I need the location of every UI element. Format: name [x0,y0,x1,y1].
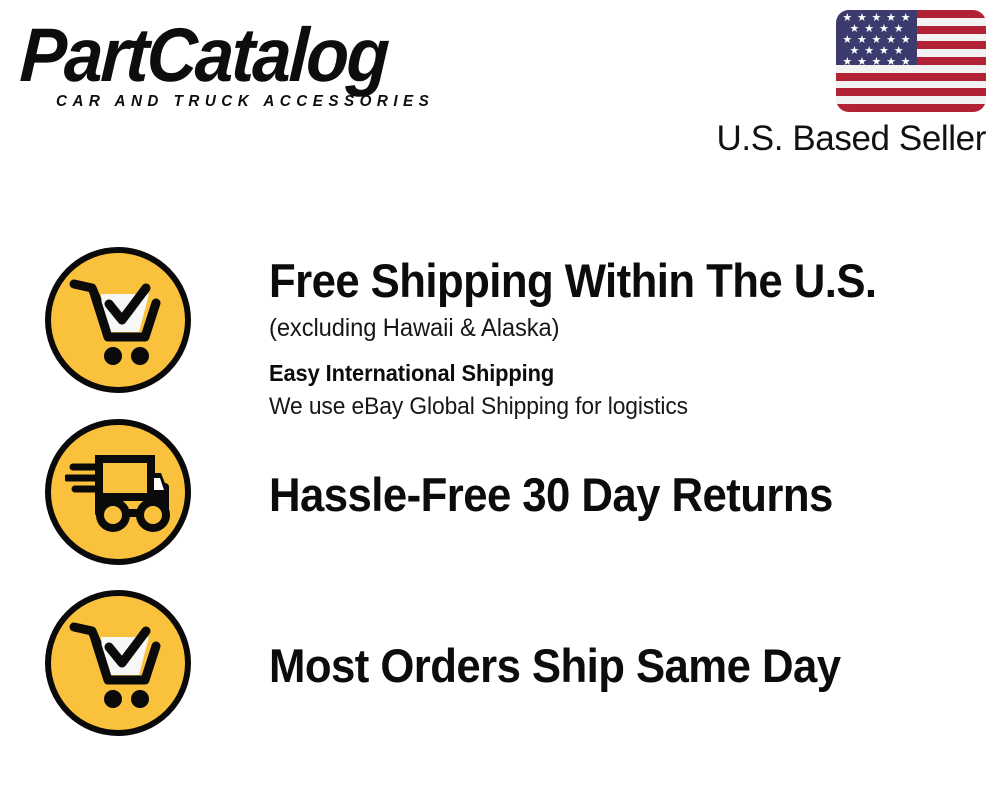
delivery-truck-icon [45,419,191,565]
us-flag-icon: ★★★★★ ★★★★ ★★★★★ ★★★★ ★★★★★ [836,10,986,112]
brand-wordmark: PartCatalog [18,18,389,94]
feature-text-block: Free Shipping Within The U.S. (excluding… [191,247,1000,423]
us-based-seller-label: U.S. Based Seller [714,118,986,160]
feature-list: Free Shipping Within The U.S. (excluding… [0,175,1000,800]
shopping-cart-check-icon [45,590,191,736]
feature-text-block: Most Orders Ship Same Day [191,590,1000,694]
brand-tagline: CAR AND TRUCK ACCESSORIES [56,93,434,111]
feature-headline: Most Orders Ship Same Day [269,638,949,694]
us-based-seller-badge: ★★★★★ ★★★★ ★★★★★ ★★★★ ★★★★★ [714,10,986,160]
flag-canton: ★★★★★ ★★★★ ★★★★★ ★★★★ ★★★★★ [836,10,917,65]
feature-row: Free Shipping Within The U.S. (excluding… [0,247,1000,417]
feature-headline: Hassle-Free 30 Day Returns [269,467,949,523]
feature-subline: (excluding Hawaii & Alaska) [269,311,963,345]
page-header: PartCatalog CAR AND TRUCK ACCESSORIES [0,0,1000,175]
shopping-cart-check-icon [45,247,191,393]
feature-text-block: Hassle-Free 30 Day Returns [191,419,1000,523]
flag-stars: ★★★★★ ★★★★ ★★★★★ ★★★★ ★★★★★ [836,10,917,65]
feature-row: Hassle-Free 30 Day Returns [0,419,1000,589]
feature-row: Most Orders Ship Same Day [0,590,1000,760]
brand-logo[interactable]: PartCatalog CAR AND TRUCK ACCESSORIES [22,18,492,118]
star-row: ★★★★★ [840,57,913,68]
feature-subhead: Easy International Shipping [269,357,963,389]
feature-headline: Free Shipping Within The U.S. [269,253,949,309]
